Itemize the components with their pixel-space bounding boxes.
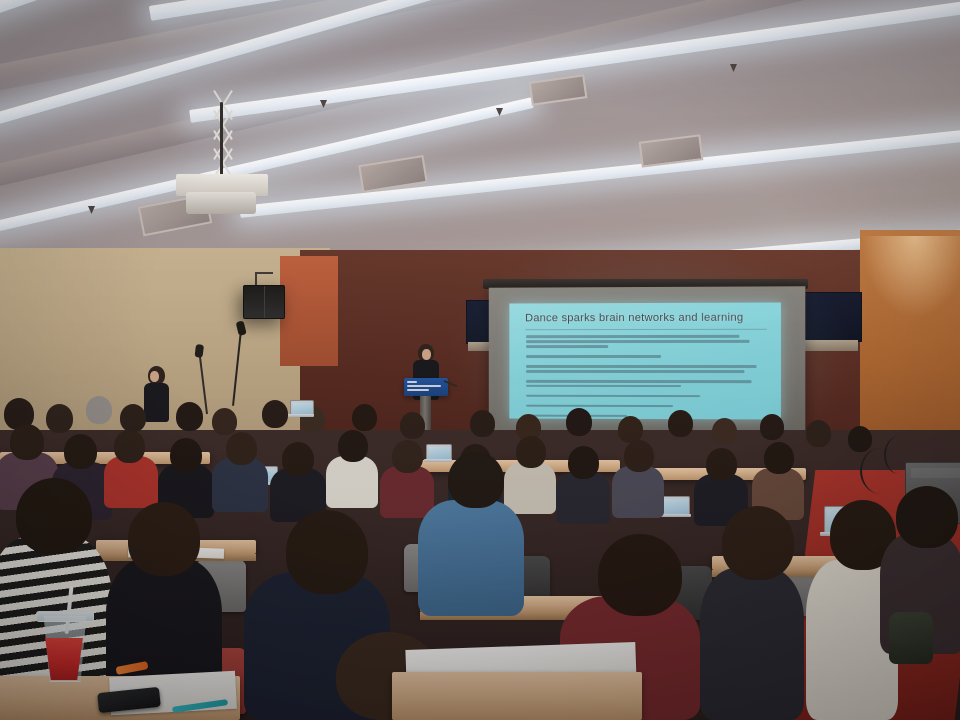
attendee-head [10, 424, 44, 460]
attendee-head [16, 478, 92, 554]
ceiling-vent [529, 74, 588, 106]
attendee-head [352, 404, 377, 431]
attendee-head [598, 534, 682, 616]
laptop[interactable] [426, 444, 450, 462]
attendee-head [568, 446, 599, 479]
attendee-head [806, 420, 831, 447]
lectern [404, 378, 448, 396]
laptop-lid [660, 496, 690, 516]
stage-arch-trim [280, 256, 338, 366]
lecture-hall-photo: Dance sparks brain networks and learning [0, 0, 960, 720]
presenter-face [422, 349, 431, 360]
laptop[interactable] [660, 496, 688, 517]
right-wall-downlight-glow [862, 236, 960, 316]
attendee-head [470, 410, 495, 437]
attendee-torso [556, 472, 610, 524]
attendee-head [624, 440, 654, 472]
attendee-head [212, 408, 237, 435]
attendee-torso [212, 458, 268, 512]
lectern-sign-line [407, 389, 429, 391]
attendee-head [282, 442, 314, 476]
attendee-head [176, 402, 203, 431]
floor-cable [884, 436, 914, 474]
attendee-head [128, 502, 200, 576]
projector-scissor-lift [206, 100, 240, 176]
lectern-sign-line [407, 385, 441, 387]
laptop-base [288, 414, 314, 417]
standing-attendee-body [144, 383, 169, 422]
laptop-screen [663, 499, 688, 514]
attendee-head [64, 434, 97, 469]
attendee-head [170, 438, 202, 472]
attendee-torso [504, 462, 556, 514]
projector-body [186, 192, 256, 214]
attendee-torso-denim [418, 500, 524, 616]
ceiling-projector [176, 100, 272, 212]
slide-body-text [526, 335, 769, 420]
attendee-torso [612, 466, 664, 518]
attendee-head [448, 452, 504, 508]
attendee-torso [104, 456, 158, 508]
attendee-head [338, 430, 368, 462]
standing-attendee-face [150, 371, 159, 382]
attendee-head [286, 510, 368, 594]
attendee-head [896, 486, 958, 548]
laptop-base [424, 459, 452, 462]
attendee-head [764, 442, 794, 474]
attendee-head [400, 412, 425, 439]
wall-speaker-icon [243, 285, 285, 319]
attendee-head [226, 432, 257, 465]
attendee-head [668, 410, 693, 437]
ceiling-light-strip [239, 120, 960, 218]
attendee-head [262, 400, 288, 428]
slide-title-divider [525, 329, 767, 330]
attendee-head [114, 430, 145, 463]
side-monitor-right-base [802, 340, 858, 351]
lectern-sign-line [407, 381, 417, 383]
attendee-head [120, 404, 146, 432]
sprinkler-head [730, 64, 737, 72]
attendee-head [516, 436, 546, 468]
projected-slide: Dance sparks brain networks and learning [509, 303, 781, 420]
projection-screen: Dance sparks brain networks and learning [489, 286, 806, 437]
front-desk-right [392, 672, 642, 720]
attendee-head [722, 506, 794, 580]
side-monitor-right [800, 292, 862, 342]
attendee-head [618, 416, 643, 443]
attendee-torso [326, 456, 378, 508]
attendee-head [46, 404, 73, 433]
attendee-head [712, 418, 737, 445]
laptop-screen [293, 403, 312, 414]
slide-title: Dance sparks brain networks and learning [525, 312, 767, 325]
attendee-head [706, 448, 737, 481]
attendee-head [86, 396, 112, 424]
attendee-torso [380, 466, 434, 518]
laptop[interactable] [290, 400, 312, 417]
attendee-head [566, 408, 592, 436]
attendee-head [760, 414, 784, 440]
attendee-torso [700, 568, 804, 720]
laptop-screen [429, 447, 450, 459]
attendee-head [392, 440, 423, 473]
attendee-head [848, 426, 872, 452]
backpack [889, 612, 933, 664]
